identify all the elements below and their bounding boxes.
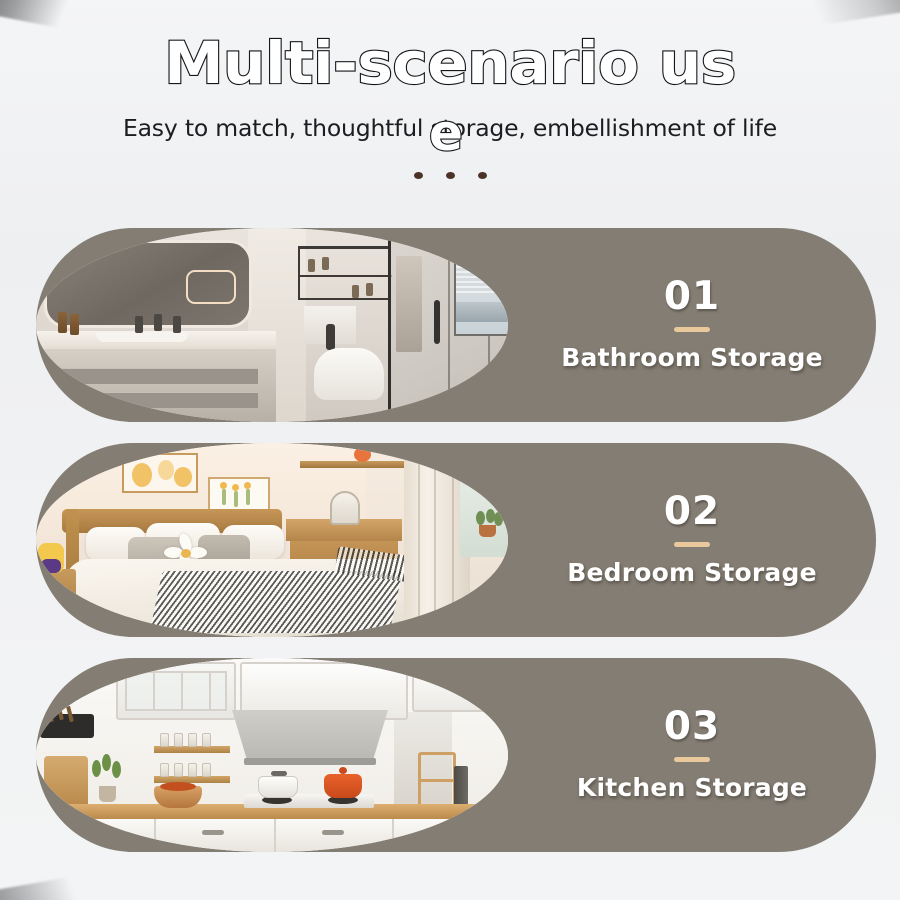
scenario-caption: 02 Bedroom Storage: [508, 443, 876, 637]
framed-art: [122, 453, 198, 493]
caption-divider: [674, 542, 710, 547]
cabinet-pull: [440, 830, 462, 835]
wall-shelf: [300, 461, 404, 468]
potted-plant: [472, 509, 502, 535]
leaf: [102, 754, 111, 771]
toilet: [314, 348, 384, 400]
plant-pot: [479, 525, 496, 537]
cabinet-seam: [392, 819, 394, 852]
glass-seam: [448, 228, 450, 416]
white-pot: [258, 776, 298, 798]
flower-center: [181, 549, 191, 558]
art-shape: [174, 467, 192, 487]
dot-3: [478, 172, 487, 179]
scenario-label: Kitchen Storage: [577, 774, 807, 803]
herb-pot: [99, 786, 116, 802]
plush-toy: [38, 543, 64, 573]
art-sprig: [222, 489, 226, 505]
decorative-dots: [0, 172, 900, 179]
scenario-number: 01: [664, 277, 720, 316]
scenario-label: Bathroom Storage: [561, 344, 823, 373]
title-overflow-letter: e: [429, 108, 463, 158]
shower-door-handle: [434, 300, 440, 344]
scenario-number: 02: [664, 492, 720, 531]
scenario-row[interactable]: 01 Bathroom Storage: [0, 228, 900, 422]
scenario-row[interactable]: 03 Kitchen Storage: [0, 658, 900, 852]
faucet: [154, 314, 162, 331]
art-bud: [232, 484, 239, 491]
cabinet-pull: [84, 830, 106, 835]
scenario-label: Bedroom Storage: [567, 559, 817, 588]
window-view: [456, 302, 508, 322]
open-shelf: [154, 776, 230, 783]
cabinet-pull: [202, 830, 224, 835]
shelf-bottle: [352, 285, 359, 298]
art-shape: [158, 460, 174, 480]
orange-dutch-oven: [324, 774, 362, 798]
curtain-fold: [418, 443, 420, 637]
window-blinds: [456, 256, 508, 296]
caption-divider: [674, 327, 710, 332]
open-shelf: [154, 746, 230, 753]
scenario-number: 03: [664, 707, 720, 746]
infographic-poster: Multi-scenario us Easy to match, thought…: [0, 0, 900, 900]
storage-jar: [160, 763, 169, 777]
nightstand: [36, 569, 76, 625]
bowl-lid: [160, 782, 196, 791]
wall-shelf-rack: [298, 246, 390, 300]
bathroom-photo: [36, 228, 508, 422]
shower-niche: [396, 256, 422, 352]
storage-jar: [174, 763, 183, 777]
faucet: [135, 316, 143, 333]
wooden-rack: [418, 752, 456, 810]
art-bud: [220, 482, 227, 489]
leaf: [112, 761, 121, 778]
knife-block: [40, 714, 94, 738]
storage-jar: [202, 763, 211, 777]
cutting-board: [44, 756, 88, 808]
leaf: [494, 512, 503, 526]
glass-upper-cabinet: [116, 662, 236, 720]
kitchen-scene: [36, 658, 508, 852]
art-shape: [132, 463, 152, 487]
bedroom-photo: [36, 443, 508, 637]
checkered-throw: [149, 571, 402, 633]
art-sprig: [246, 489, 250, 505]
dot-2: [446, 172, 455, 179]
faucet: [173, 316, 181, 333]
range-hood-lip: [244, 758, 376, 765]
cabinet-seam: [154, 819, 156, 852]
vanity-drawer: [52, 392, 258, 408]
leaf: [92, 760, 101, 777]
storage-jar: [188, 733, 197, 747]
vanity-mirror: [330, 491, 360, 525]
vanity-cabinet: [36, 349, 276, 422]
shelf-bottle: [308, 259, 315, 272]
mirror-inset: [186, 270, 236, 304]
bedroom-scene: [36, 443, 508, 637]
kitchen-photo: [36, 658, 508, 852]
shelf-bottle: [366, 283, 373, 296]
cabinet-pull: [322, 830, 344, 835]
base-cabinets: [36, 819, 508, 852]
scenario-caption: 01 Bathroom Storage: [508, 228, 876, 422]
upper-cabinet: [412, 662, 504, 712]
basin: [96, 332, 188, 342]
scenario-list: 01 Bathroom Storage: [0, 228, 900, 873]
potted-herb: [90, 754, 124, 804]
leaf: [476, 511, 485, 525]
shelf-bottle: [322, 257, 329, 270]
art-bud: [244, 482, 251, 489]
toiletry-bottle: [70, 314, 79, 335]
storage-jar: [188, 763, 197, 777]
bathroom-scene: [36, 228, 508, 422]
art-sprig: [234, 491, 238, 507]
caption-divider: [674, 757, 710, 762]
storage-jar: [160, 733, 169, 747]
scenario-caption: 03 Kitchen Storage: [508, 658, 876, 852]
corner-artifact-bottom-left: [0, 873, 98, 900]
range-hood: [232, 710, 388, 762]
scenario-row[interactable]: 02 Bedroom Storage: [0, 443, 900, 637]
shelf-lamp: [354, 447, 371, 462]
storage-jar: [202, 733, 211, 747]
curtain-fold: [452, 443, 454, 637]
storage-jar: [174, 733, 183, 747]
page-title: Multi-scenario us: [0, 34, 900, 92]
cabinet-seam: [274, 819, 276, 852]
shower-valve: [326, 324, 335, 350]
toiletry-bottle: [58, 312, 67, 333]
curtain-fold: [434, 443, 436, 637]
dot-1: [414, 172, 423, 179]
vanity-drawer: [52, 368, 258, 384]
